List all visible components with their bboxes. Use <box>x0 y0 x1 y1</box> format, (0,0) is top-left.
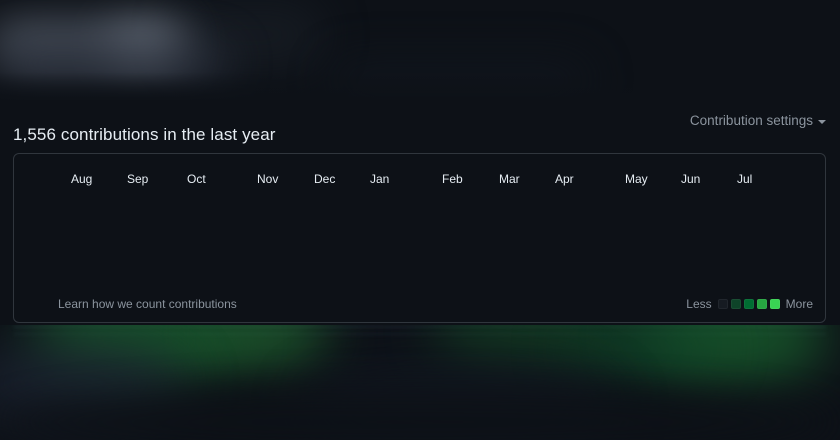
month-label-sep: Sep <box>127 171 148 187</box>
contributions-heading-row: 1,556 contributions in the last year Con… <box>0 108 840 150</box>
contribution-level-legend: Less More <box>686 295 813 313</box>
calendar-scroll-region[interactable]: AugSepOctNovDecJanFebMarAprMayJunJul Mon… <box>14 154 826 288</box>
month-label-jul: Jul <box>737 171 752 187</box>
month-label-apr: Apr <box>555 171 574 187</box>
month-label-mar: Mar <box>499 171 520 187</box>
legend-swatch-level-1 <box>731 299 741 309</box>
legend-swatch-level-3 <box>757 299 767 309</box>
contribution-calendar-card: AugSepOctNovDecJanFebMarAprMayJunJul Mon… <box>13 153 826 323</box>
month-label-oct: Oct <box>187 171 206 187</box>
calendar-footer: Learn how we count contributions Less Mo… <box>14 286 826 322</box>
learn-how-we-count-link[interactable]: Learn how we count contributions <box>58 295 237 313</box>
month-label-jan: Jan <box>370 171 389 187</box>
month-label-dec: Dec <box>314 171 335 187</box>
blurred-bottom-region <box>0 325 840 440</box>
contribution-settings-label: Contribution settings <box>690 113 813 128</box>
legend-swatch-level-2 <box>744 299 754 309</box>
legend-less-label: Less <box>686 295 711 313</box>
chevron-down-icon <box>818 120 826 124</box>
contribution-settings-button[interactable]: Contribution settings <box>690 110 826 132</box>
month-label-may: May <box>625 171 648 187</box>
legend-more-label: More <box>786 295 813 313</box>
legend-swatch-level-0 <box>718 299 728 309</box>
month-label-jun: Jun <box>681 171 700 187</box>
blurred-top-chrome <box>0 0 840 100</box>
month-labels-row: AugSepOctNovDecJanFebMarAprMayJunJul <box>14 171 814 187</box>
page-title: 1,556 contributions in the last year <box>13 122 276 148</box>
month-label-aug: Aug <box>71 171 92 187</box>
month-label-nov: Nov <box>257 171 278 187</box>
month-label-feb: Feb <box>442 171 463 187</box>
blur-blob <box>210 325 330 369</box>
legend-swatch-level-4 <box>770 299 780 309</box>
blur-fade-overlay <box>0 72 840 100</box>
